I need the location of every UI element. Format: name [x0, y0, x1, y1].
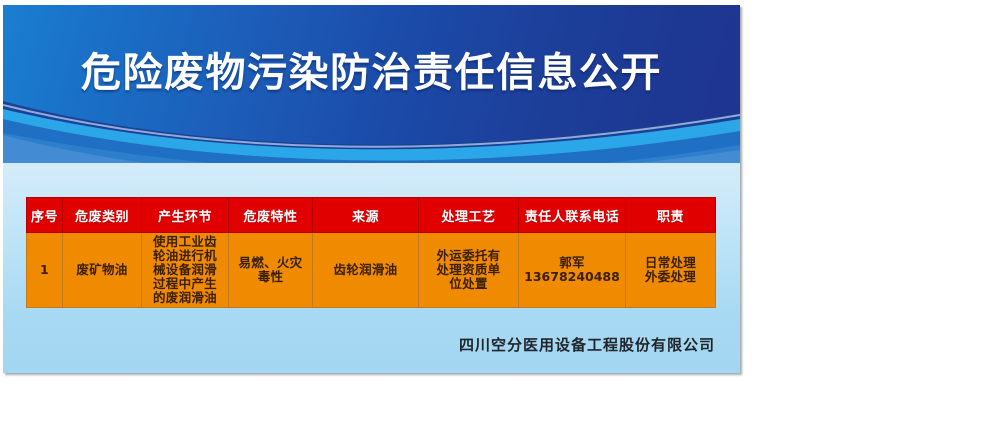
cell-source: 齿轮润滑油 [313, 233, 419, 308]
cell-stage-line-3: 械设备润滑 [144, 263, 226, 277]
cell-characteristic-line-2: 毒性 [231, 270, 310, 284]
column-header-source: 来源 [313, 198, 419, 233]
information-poster: 危险废物污染防治责任信息公开 序号 危废类别 产生环节 危废特性 来源 处理工艺… [3, 5, 740, 373]
poster-banner: 危险废物污染防治责任信息公开 [3, 5, 740, 163]
column-header-duty: 职责 [626, 198, 716, 233]
cell-stage: 使用工业齿 轮油进行机 械设备润滑 过程中产生 的废润滑油 [142, 233, 229, 308]
cell-duty-line-2: 外委处理 [628, 270, 713, 284]
cell-process-line-2: 处理资质单 [421, 263, 516, 277]
cell-stage-line-4: 过程中产生 [144, 277, 226, 291]
cell-contact: 郭军 13678240488 [519, 233, 626, 308]
column-header-seq: 序号 [27, 198, 63, 233]
company-name: 四川空分医用设备工程股份有限公司 [3, 334, 715, 355]
cell-duty-line-1: 日常处理 [628, 256, 713, 270]
cell-characteristic: 易燃、火灾 毒性 [229, 233, 313, 308]
cell-stage-line-1: 使用工业齿 [144, 235, 226, 249]
column-header-characteristic: 危废特性 [229, 198, 313, 233]
cell-stage-line-5: 的废润滑油 [144, 291, 226, 305]
hazardous-waste-table: 序号 危废类别 产生环节 危废特性 来源 处理工艺 责任人联系电话 职责 1 废… [26, 197, 716, 308]
contact-person-name: 郭军 [521, 256, 623, 270]
cell-stage-line-2: 轮油进行机 [144, 249, 226, 263]
cell-category: 废矿物油 [63, 233, 142, 308]
cell-process-line-3: 位处置 [421, 277, 516, 291]
cell-characteristic-line-1: 易燃、火灾 [231, 256, 310, 270]
column-header-category: 危废类别 [63, 198, 142, 233]
cell-process: 外运委托有 处理资质单 位处置 [419, 233, 519, 308]
contact-person-phone: 13678240488 [521, 270, 623, 284]
page-title: 危险废物污染防治责任信息公开 [3, 49, 740, 97]
table-header-row: 序号 危废类别 产生环节 危废特性 来源 处理工艺 责任人联系电话 职责 [27, 198, 716, 233]
cell-seq: 1 [27, 233, 63, 308]
cell-process-line-1: 外运委托有 [421, 249, 516, 263]
column-header-stage: 产生环节 [142, 198, 229, 233]
table-row: 1 废矿物油 使用工业齿 轮油进行机 械设备润滑 过程中产生 的废润滑油 易燃、… [27, 233, 716, 308]
column-header-contact: 责任人联系电话 [519, 198, 626, 233]
column-header-process: 处理工艺 [419, 198, 519, 233]
cell-duty: 日常处理 外委处理 [626, 233, 716, 308]
